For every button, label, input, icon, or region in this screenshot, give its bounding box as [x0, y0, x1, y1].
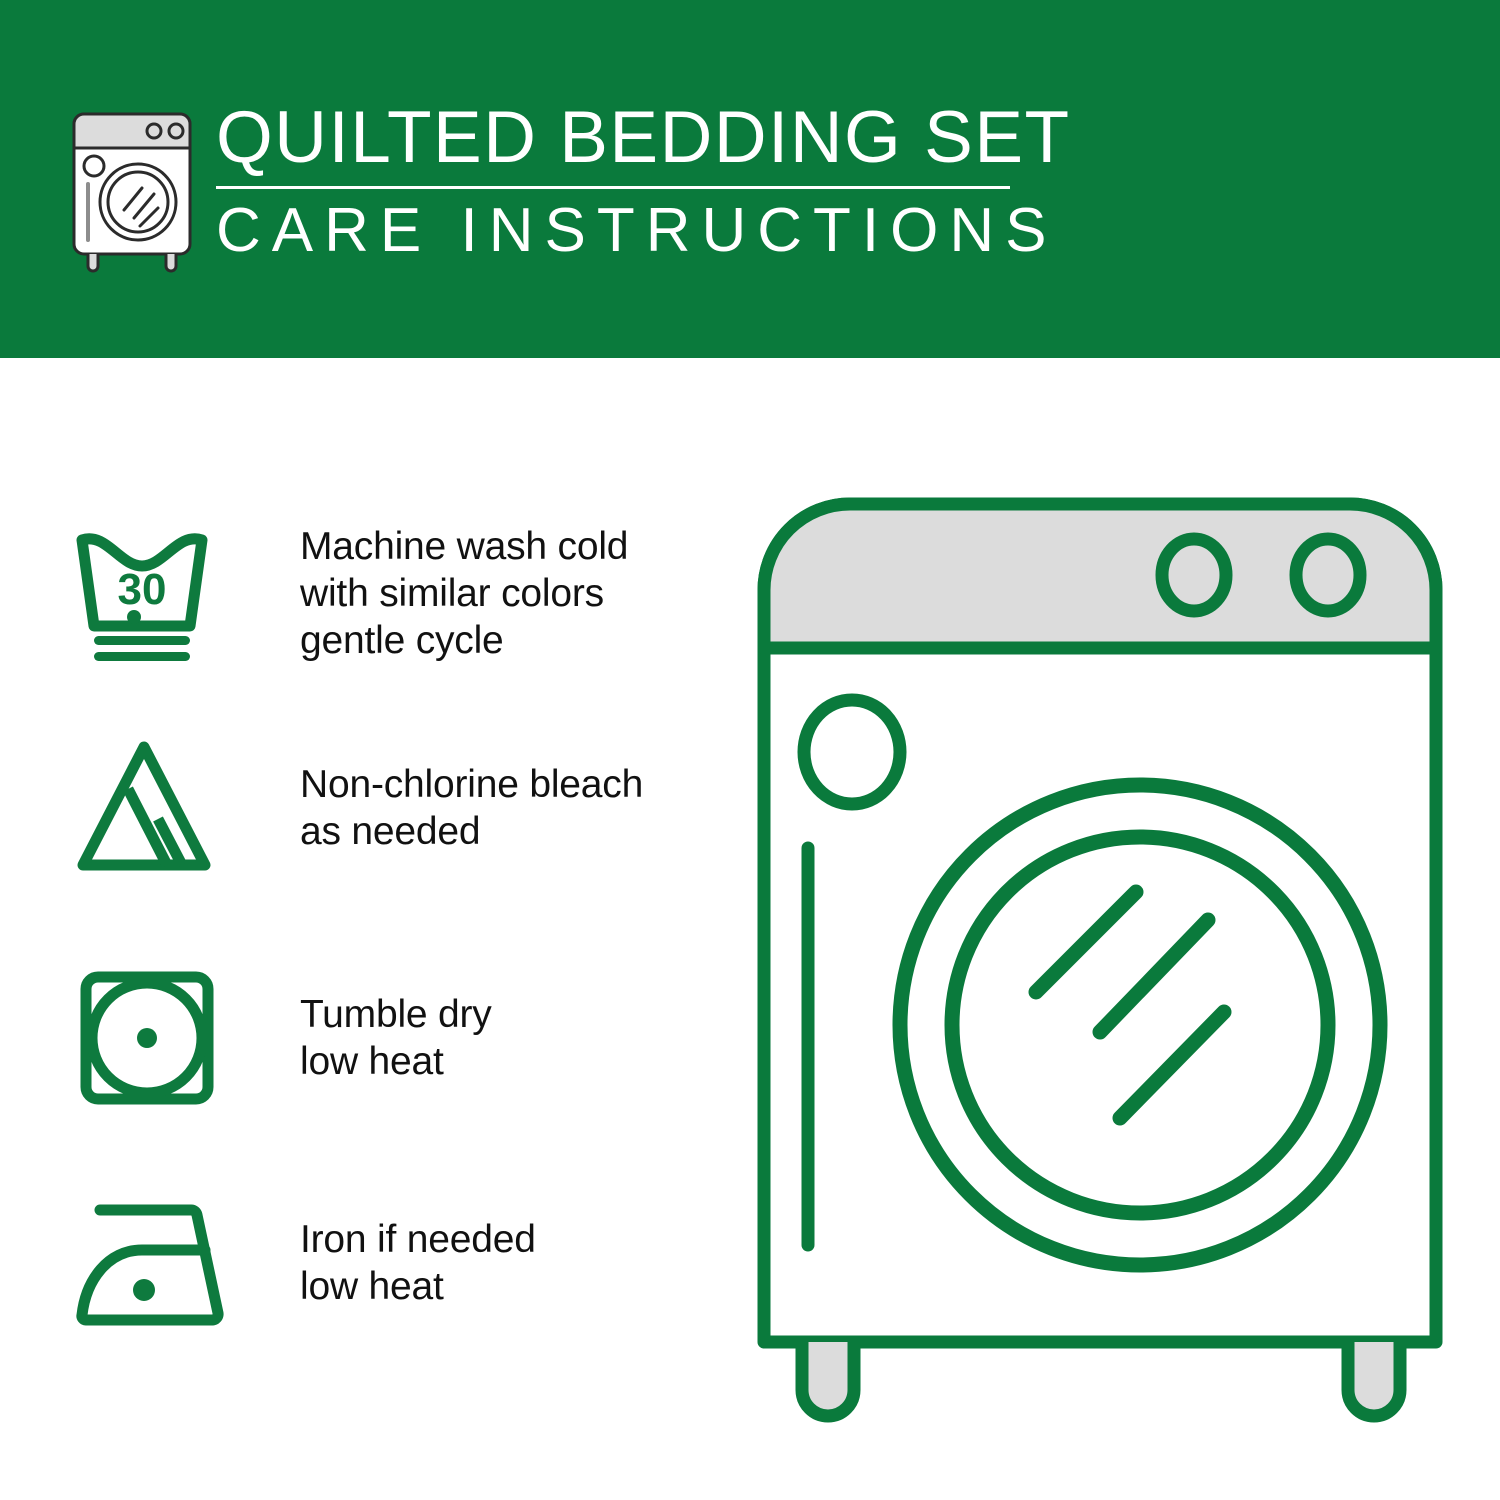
page-subtitle: CARE INSTRUCTIONS	[216, 197, 1016, 265]
non-chlorine-bleach-icon	[72, 733, 232, 883]
care-instruction-list: 30 Machine wash cold with similar colors…	[0, 358, 740, 1500]
knob-right	[1296, 539, 1360, 611]
foot-right	[1348, 1342, 1400, 1416]
care-instructions-page: QUILTED BEDDING SET CARE INSTRUCTIONS 30	[0, 0, 1500, 1500]
iron-low-heat-icon	[72, 1188, 232, 1338]
care-row-bleach: Non-chlorine bleach as needed	[72, 733, 712, 883]
care-text-tumble-dry: Tumble dry low heat	[300, 991, 492, 1085]
header-text-block: QUILTED BEDDING SET CARE INSTRUCTIONS	[216, 100, 1016, 265]
washing-machine-icon	[62, 104, 202, 274]
care-text-line: Non-chlorine bleach	[300, 761, 643, 808]
care-text-line: Iron if needed	[300, 1216, 536, 1263]
care-row-iron: Iron if needed low heat	[72, 1188, 712, 1338]
wash-temperature-label: 30	[118, 565, 167, 614]
header-band: QUILTED BEDDING SET CARE INSTRUCTIONS	[0, 0, 1500, 358]
care-text-line: with similar colors	[300, 570, 628, 617]
detergent-cap	[804, 700, 900, 804]
care-text-line: as needed	[300, 808, 643, 855]
front-load-washing-machine-illustration	[740, 480, 1460, 1440]
page-title: QUILTED BEDDING SET	[216, 100, 1016, 176]
care-text-line: Tumble dry	[300, 991, 492, 1038]
header-divider	[216, 186, 1010, 189]
foot-left	[802, 1342, 854, 1416]
care-row-tumble-dry: Tumble dry low heat	[72, 963, 712, 1113]
tumble-dry-low-icon	[72, 963, 232, 1113]
care-text-iron: Iron if needed low heat	[300, 1216, 536, 1310]
care-text-line: Machine wash cold	[300, 523, 628, 570]
care-text-line: low heat	[300, 1263, 536, 1310]
care-text-line: low heat	[300, 1038, 492, 1085]
machine-wash-30-gentle-icon: 30	[72, 518, 232, 668]
care-text-wash: Machine wash cold with similar colors ge…	[300, 523, 628, 664]
knob-left	[1162, 539, 1226, 611]
care-row-wash: 30 Machine wash cold with similar colors…	[72, 518, 712, 668]
care-text-bleach: Non-chlorine bleach as needed	[300, 761, 643, 855]
care-text-line: gentle cycle	[300, 617, 628, 664]
